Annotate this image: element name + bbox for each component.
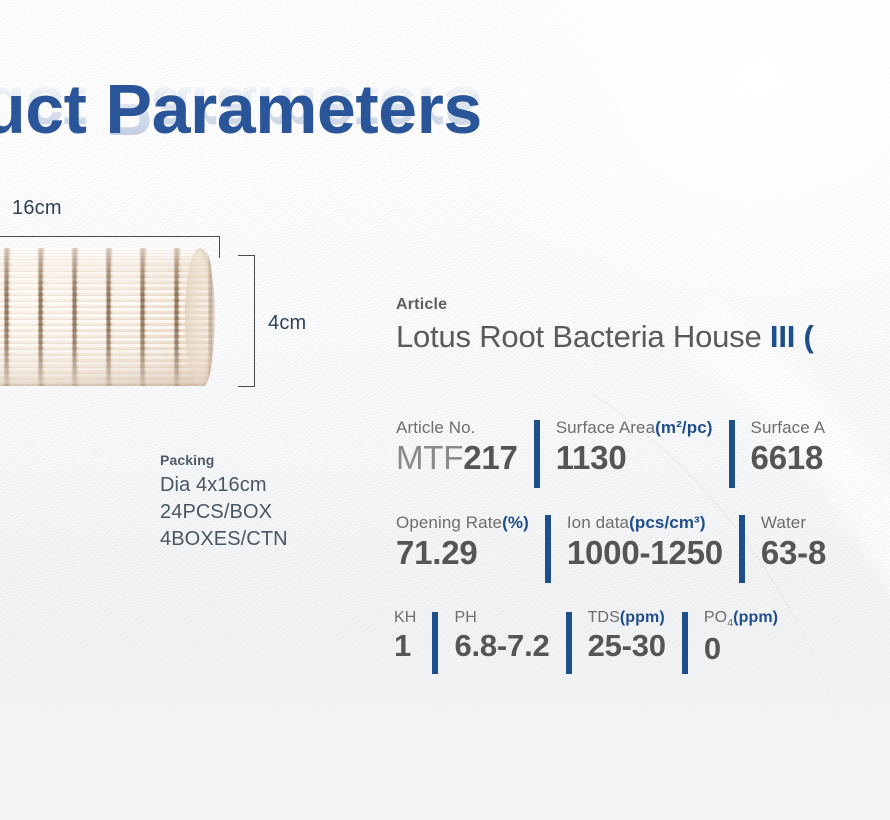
spec-value: 71.29: [396, 536, 529, 571]
article-name: Lotus Root Bacteria House III (: [396, 319, 814, 355]
spec-cell-ph: PH6.8-7.2: [454, 608, 549, 663]
height-dimension-label: 4cm: [268, 312, 306, 335]
spec-value-main: 6618: [751, 439, 824, 476]
spec-cell-surface-area: Surface Area(m²/pc)1130: [556, 418, 713, 476]
product-reflection: [0, 320, 214, 384]
spec-value: 6.8-7.2: [454, 630, 549, 663]
spec-value: 25-30: [588, 630, 666, 663]
spec-value: MTF217: [396, 441, 518, 476]
spec-value: 63-8: [761, 536, 826, 571]
spec-divider: [534, 420, 540, 488]
spec-value: 6618: [751, 441, 826, 476]
spec-cell-water: Water 63-8: [761, 513, 826, 571]
spec-unit: (%): [502, 513, 529, 532]
article-label: Article: [396, 296, 814, 314]
spec-divider: [566, 612, 572, 674]
height-dimension-bracket: [238, 255, 255, 387]
page-title-block: luct Parameters luct Parameters: [0, 74, 684, 216]
spec-value-main: 6.8-7.2: [454, 628, 549, 663]
spec-cell-article-no: Article No.MTF217: [396, 418, 518, 476]
width-dimension-label: 16cm: [12, 197, 62, 220]
spec-row-1: Article No.MTF217Surface Area(m²/pc)1130…: [396, 418, 825, 488]
spec-value-main: 63-8: [761, 534, 826, 571]
spec-unit: (ppm): [620, 609, 665, 626]
spec-cell-surface-a: Surface A6618: [751, 418, 826, 476]
packing-title: Packing: [160, 452, 288, 468]
spec-row-2: Opening Rate(%)71.29Ion data(pcs/cm³)100…: [396, 513, 826, 583]
spec-value: 0: [704, 633, 778, 666]
page-title-reflection: luct Parameters: [0, 76, 684, 146]
packing-line-dimensions: Dia 4x16cm: [160, 472, 288, 499]
width-dimension-end-tick: [219, 236, 220, 258]
spec-cell-opening-rate: Opening Rate(%)71.29: [396, 513, 529, 571]
spec-unit: (ppm): [733, 609, 778, 626]
spec-label: Surface Area(m²/pc): [556, 418, 713, 438]
spec-value-main: 25-30: [588, 628, 666, 663]
spec-label: TDS(ppm): [588, 608, 666, 627]
spec-value-main: 0: [704, 631, 721, 666]
spec-label: Opening Rate(%): [396, 513, 529, 533]
packing-line-per-carton: 4BOXES/CTN: [160, 526, 288, 553]
product-image: [0, 248, 234, 390]
spec-unit: (m²/pc): [655, 418, 712, 437]
spec-divider: [545, 515, 551, 583]
spec-cell-po4: PO4(ppm)0: [704, 608, 778, 665]
spec-row-3: KH1PH6.8-7.2TDS(ppm)25-30PO4(ppm)0: [394, 608, 778, 674]
spec-label: Article No.: [396, 418, 518, 438]
spec-value-main: 1: [394, 628, 411, 663]
spec-cell-ion-data: Ion data(pcs/cm³)1000-1250: [567, 513, 723, 571]
spec-cell-kh: KH1: [394, 608, 416, 663]
spec-label: PH: [454, 608, 549, 627]
width-dimension-line: [0, 236, 220, 237]
product-parameters-page: luct Parameters luct Parameters 16cm 4cm…: [0, 0, 890, 820]
spec-value-main: 1000-1250: [567, 534, 723, 571]
spec-value: 1: [394, 630, 416, 663]
spec-divider: [739, 515, 745, 583]
spec-label: Surface A: [751, 418, 826, 438]
article-name-accent: III (: [770, 319, 814, 354]
spec-value-main: 71.29: [396, 534, 478, 571]
spec-value: 1130: [556, 441, 713, 476]
spec-label: KH: [394, 608, 416, 627]
spec-value-prefix: MTF: [396, 439, 463, 476]
spec-label: Water: [761, 513, 826, 533]
spec-unit: (pcs/cm³): [629, 513, 705, 532]
spec-value-main: 217: [463, 439, 517, 476]
spec-value-main: 1130: [556, 439, 627, 476]
article-block: Article Lotus Root Bacteria House III (: [396, 296, 814, 355]
spec-divider: [682, 612, 688, 674]
article-name-text: Lotus Root Bacteria House: [396, 319, 770, 354]
spec-label: Ion data(pcs/cm³): [567, 513, 723, 533]
spec-value: 1000-1250: [567, 536, 723, 571]
spec-divider: [729, 420, 735, 488]
packing-line-per-box: 24PCS/BOX: [160, 499, 288, 526]
packing-block: Packing Dia 4x16cm 24PCS/BOX 4BOXES/CTN: [160, 452, 288, 552]
spec-label: PO4(ppm): [704, 608, 778, 630]
spec-cell-tds: TDS(ppm)25-30: [588, 608, 666, 663]
spec-divider: [432, 612, 438, 674]
